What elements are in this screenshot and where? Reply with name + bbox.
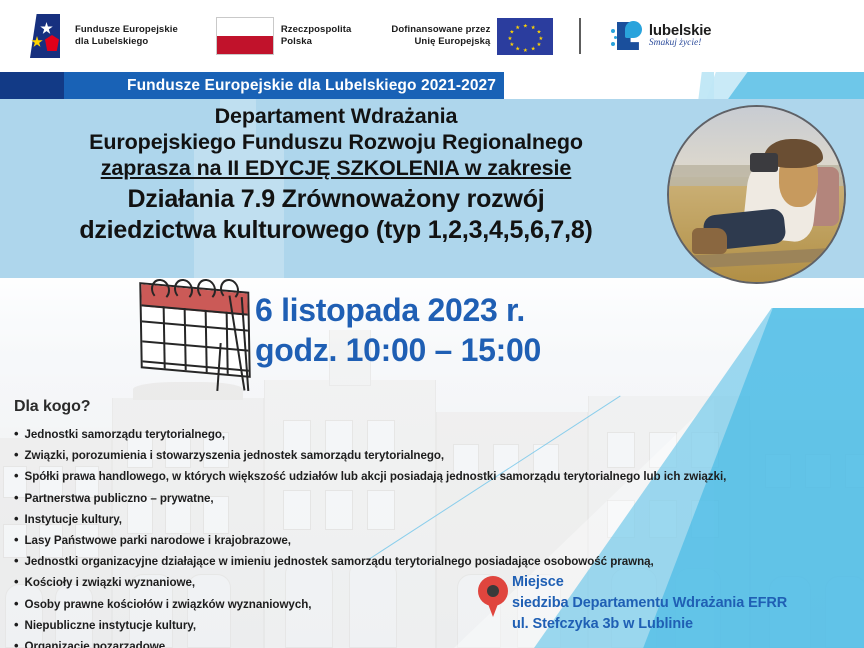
headline-block: Departament Wdrażania Europejskiego Fund… [0,104,672,246]
ribbon-dark-segment [0,72,64,99]
place-block: Miejsce siedziba Departamentu Wdrażania … [512,572,787,635]
eu-logo-strip: Fundusze Europejskie dla Lubelskiego Rze… [0,0,864,72]
headline-line-5: dziedzictwa kulturowego (typ 1,2,3,4,5,6… [0,215,672,246]
logo-eu-line1: Dofinansowane przez [391,24,490,36]
lubelskie-logo-icon [611,19,645,53]
map-pin-icon [478,576,508,618]
logo-fe-line1: Fundusze Europejskie [75,24,178,36]
event-date: 6 listopada 2023 r. [255,290,541,330]
logo-lubelskie-word: lubelskie [649,23,711,38]
logo-divider [579,18,581,54]
woman-with-camera-photo [667,105,846,284]
headline-line-3: zaprasza na II EDYCJĘ SZKOLENIA w zakres… [0,155,672,182]
logo-pl-line2: Polska [281,36,352,48]
logo-lubelskie: lubelskie Smakuj życie! [611,19,711,53]
logo-unia-europejska: Dofinansowane przez Unię Europejską [391,18,553,55]
ribbon-blue-segment: Fundusze Europejskie dla Lubelskiego 202… [64,72,504,99]
programme-ribbon: Fundusze Europejskie dla Lubelskiego 202… [0,72,504,99]
date-block: 6 listopada 2023 r. godz. 10:00 – 15:00 [255,290,541,370]
headline-line-1: Departament Wdrażania [0,104,672,130]
audience-list-item: Spółki prawa handlowego, w których więks… [14,466,860,487]
place-address: ul. Stefczyka 3b w Lublinie [512,614,787,635]
eu-flag-icon [497,18,553,55]
poland-flag-icon [216,17,274,55]
poster-root: Fundusze Europejskie dla Lubelskiego Rze… [0,0,864,648]
audience-list-item: Organizacje pozarządowe, [14,636,860,648]
headline-line-4: Działania 7.9 Zrównoważony rozwój [0,184,672,215]
logo-rzeczpospolita-polska: Rzeczpospolita Polska [216,17,352,55]
audience-title: Dla kogo? [14,398,90,416]
audience-list-item: Partnerstwa publiczno – prywatne, [14,488,860,509]
logo-eu-line2: Unię Europejską [391,36,490,48]
logo-eu-text: Dofinansowane przez Unię Europejską [391,24,490,48]
logo-pl-text: Rzeczpospolita Polska [281,24,352,48]
logo-fundusze-europejskie: Fundusze Europejskie dla Lubelskiego [22,14,178,58]
calendar-icon [140,283,262,393]
eu-funds-stars-icon [22,14,68,58]
audience-list-item: Instytucje kultury, [14,509,860,530]
audience-list-item: Lasy Państwowe parki narodowe i krajobra… [14,530,860,551]
event-time: godz. 10:00 – 15:00 [255,330,541,370]
logo-fe-text: Fundusze Europejskie dla Lubelskiego [75,24,178,48]
ribbon-text: Fundusze Europejskie dla Lubelskiego 202… [127,77,496,95]
audience-list-item: Związki, porozumienia i stowarzyszenia j… [14,445,860,466]
logo-lubelskie-slogan: Smakuj życie! [649,38,711,49]
logo-pl-line1: Rzeczpospolita [281,24,352,36]
place-label: Miejsce [512,572,787,593]
audience-list-item: Jednostki organizacyjne działające w imi… [14,551,860,572]
place-venue: siedziba Departamentu Wdrażania EFRR [512,593,787,614]
logo-fe-line2: dla Lubelskiego [75,36,178,48]
headline-line-2: Europejskiego Funduszu Rozwoju Regionaln… [0,130,672,156]
audience-list-item: Jednostki samorządu terytorialnego, [14,424,860,445]
logo-lubelskie-text: lubelskie Smakuj życie! [649,23,711,49]
